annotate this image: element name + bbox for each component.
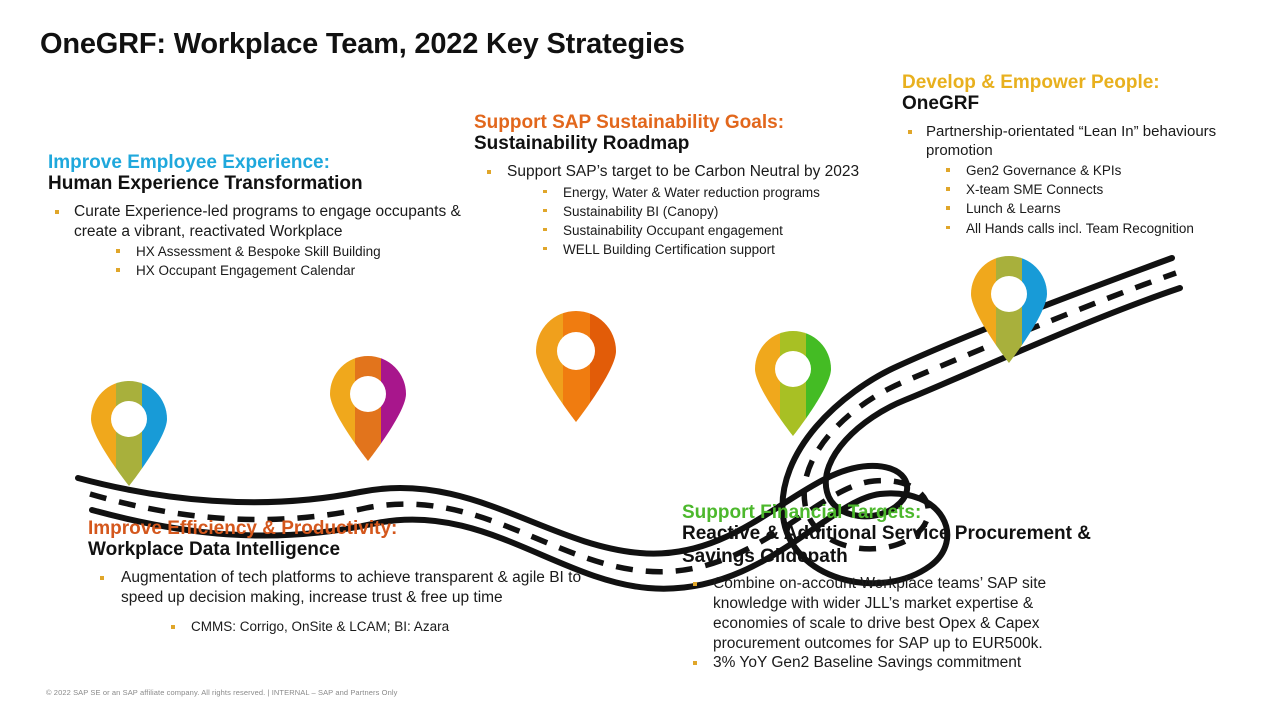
- bullet-text: Partnership-orientated “Lean In” behavio…: [926, 122, 1280, 160]
- strategy-block-employee-experience: Improve Employee Experience: Human Exper…: [48, 152, 478, 282]
- bullet-text: Curate Experience-led programs to engage…: [74, 202, 478, 242]
- block-subhead-employee-experience: Human Experience Transformation: [48, 173, 478, 195]
- page-title: OneGRF: Workplace Team, 2022 Key Strateg…: [40, 28, 685, 61]
- block-kicker-people: Develop & Empower People:: [902, 72, 1280, 93]
- list-item: Combine on-account Workplace teams’ SAP …: [682, 574, 1112, 653]
- strategy-block-financial: Support Financial Targets: Reactive & Ad…: [682, 502, 1112, 673]
- sub-bullet-list: HX Assessment & Bespoke Skill Building H…: [74, 242, 478, 280]
- list-item: Partnership-orientated “Lean In” behavio…: [902, 122, 1280, 238]
- list-item: 3% YoY Gen2 Baseline Savings commitment: [682, 653, 1112, 673]
- bullet-text: Combine on-account Workplace teams’ SAP …: [713, 574, 1112, 653]
- block-kicker-efficiency: Improve Efficiency & Productivity:: [88, 518, 608, 539]
- list-item: Sustainability BI (Canopy): [507, 202, 894, 221]
- bullet-list-employee-experience: Curate Experience-led programs to engage…: [48, 202, 478, 281]
- list-item: Energy, Water & Water reduction programs: [507, 183, 894, 202]
- list-item: All Hands calls incl. Team Recognition: [926, 219, 1280, 238]
- pin-employee-experience: [88, 381, 170, 487]
- block-subhead-people: OneGRF: [902, 93, 1280, 115]
- bullet-text: Support SAP’s target to be Carbon Neutra…: [507, 162, 894, 182]
- sub-bullet-list: Gen2 Governance & KPIs X-team SME Connec…: [926, 161, 1280, 238]
- list-item: Augmentation of tech platforms to achiev…: [88, 568, 608, 637]
- bullet-list-people: Partnership-orientated “Lean In” behavio…: [902, 122, 1280, 238]
- strategy-block-efficiency: Improve Efficiency & Productivity: Workp…: [88, 518, 608, 637]
- sub-bullet-list: CMMS: Corrigo, OnSite & LCAM; BI: Azara: [121, 617, 608, 636]
- block-kicker-sustainability: Support SAP Sustainability Goals:: [474, 112, 894, 133]
- list-item: CMMS: Corrigo, OnSite & LCAM; BI: Azara: [121, 617, 608, 636]
- bullet-list-efficiency: Augmentation of tech platforms to achiev…: [88, 568, 608, 637]
- list-item: HX Occupant Engagement Calendar: [74, 261, 478, 280]
- bullet-list-sustainability: Support SAP’s target to be Carbon Neutra…: [474, 162, 894, 259]
- list-item: Curate Experience-led programs to engage…: [48, 202, 478, 281]
- block-subhead-sustainability: Sustainability Roadmap: [474, 133, 894, 155]
- pin-financial: [752, 331, 834, 437]
- strategy-block-sustainability: Support SAP Sustainability Goals: Sustai…: [474, 112, 894, 260]
- bullet-text: 3% YoY Gen2 Baseline Savings commitment: [713, 653, 1112, 673]
- bullet-text: Augmentation of tech platforms to achiev…: [121, 568, 608, 608]
- list-item: HX Assessment & Bespoke Skill Building: [74, 242, 478, 261]
- block-kicker-employee-experience: Improve Employee Experience:: [48, 152, 478, 173]
- block-subhead-financial: Reactive & Additional Service Procuremen…: [682, 523, 1112, 568]
- list-item: Gen2 Governance & KPIs: [926, 161, 1280, 180]
- block-kicker-financial: Support Financial Targets:: [682, 502, 1112, 523]
- bullet-list-financial: Combine on-account Workplace teams’ SAP …: [682, 574, 1112, 673]
- list-item: Sustainability Occupant engagement: [507, 221, 894, 240]
- strategy-block-people: Develop & Empower People: OneGRF Partner…: [902, 72, 1280, 239]
- footer-copyright: © 2022 SAP SE or an SAP affiliate compan…: [46, 688, 397, 697]
- block-subhead-efficiency: Workplace Data Intelligence: [88, 539, 608, 561]
- slide-canvas: OneGRF: Workplace Team, 2022 Key Strateg…: [0, 0, 1280, 720]
- list-item: WELL Building Certification support: [507, 240, 894, 259]
- pin-sustainability: [533, 311, 619, 423]
- list-item: Support SAP’s target to be Carbon Neutra…: [474, 162, 894, 259]
- list-item: Lunch & Learns: [926, 199, 1280, 218]
- pin-efficiency: [327, 356, 409, 462]
- pin-people: [968, 256, 1050, 364]
- sub-bullet-list: Energy, Water & Water reduction programs…: [507, 183, 894, 260]
- list-item: X-team SME Connects: [926, 180, 1280, 199]
